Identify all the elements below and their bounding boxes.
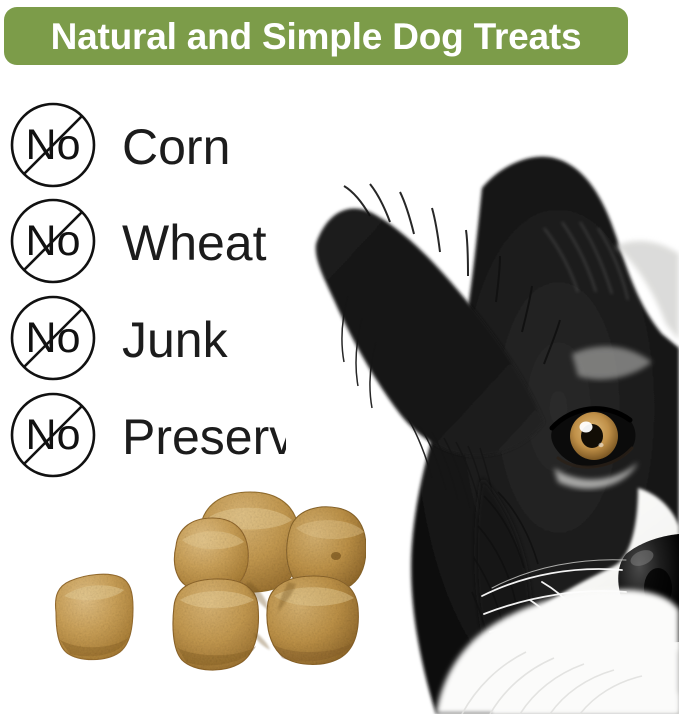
- product-infographic: Natural and Simple Dog Treats No Corn No…: [0, 0, 679, 714]
- claim-label-wheat: Wheat: [122, 218, 267, 268]
- no-symbol-icon: No: [10, 102, 96, 188]
- no-symbol-icon: No: [10, 198, 96, 284]
- treat-cluster-front-right: [267, 576, 358, 664]
- treat-single: [56, 574, 133, 659]
- no-symbol-icon: No: [10, 295, 96, 381]
- claim-label-junk: Junk: [122, 315, 228, 365]
- dog-treats-photo: [36, 484, 366, 674]
- claim-label-corn: Corn: [122, 122, 230, 172]
- header-banner: Natural and Simple Dog Treats: [4, 7, 628, 65]
- page-title: Natural and Simple Dog Treats: [51, 18, 582, 55]
- no-symbol-icon: No: [10, 392, 96, 478]
- treat-cluster-front-left: [173, 579, 259, 670]
